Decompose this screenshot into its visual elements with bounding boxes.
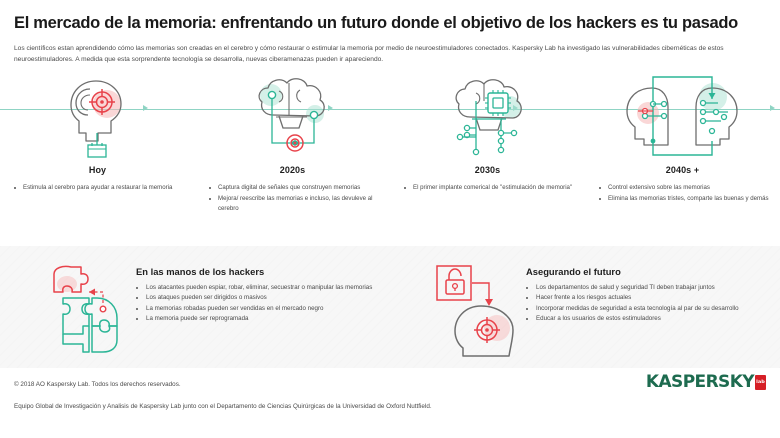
list-item: Captura digital de señales que construye… [209,183,390,193]
brain-with-microchip-implant-icon [390,71,585,163]
panel-text-hackers: En las manos de los hackers Los atacante… [132,260,372,325]
timeline-stage-2020s[interactable]: 2020s Captura digital de señales que con… [195,71,390,221]
stage-label: 2030s [390,165,585,175]
bottom-panel: En las manos de los hackers Los atacante… [0,246,780,368]
panel-title: Asegurando el futuro [526,266,739,277]
kaspersky-lab-logo: KASPERSKY lab [646,374,766,391]
stage-bullet-list: El primer implante comerical de "estimul… [390,183,585,193]
panel-bullet-list: Los atacantes pueden espiar, robar, elim… [136,283,372,325]
logo-wordmark: KASPERSKY [646,374,754,391]
panel-text-securing-future: Asegurando el futuro Los departamentos d… [522,260,739,325]
list-item: Control extensivo sobre las memorias [599,183,780,193]
timeline-stage-hoy[interactable]: Hoy Estimula al cerebro para ayudar a re… [0,71,195,221]
stage-label: 2040s + [585,165,780,175]
list-item: La memorias robadas pueden ser vendidas … [136,304,372,314]
puzzle-head-missing-piece-icon [36,260,132,358]
stage-bullet-list: Estimula al cerebro para ayudar a restau… [0,183,195,193]
stage-bullet-list: Control extensivo sobre las memorias Eli… [585,183,780,204]
two-heads-memory-transfer-icon [585,71,780,163]
timeline-stage-2030s[interactable]: 2030s El primer implante comerical de "e… [390,71,585,221]
panel-hackers: En las manos de los hackers Los atacante… [0,246,390,368]
footer: © 2018 AO Kaspersky Lab. Todos los derec… [0,368,780,438]
intro-paragraph: Los científicos estan aprendidendo cómo … [14,43,766,66]
list-item: Los ataques pueden ser dirigidos o masiv… [136,293,372,303]
panel-securing-future: Asegurando el futuro Los departamentos d… [390,246,780,368]
timeline-stage-2040s[interactable]: 2040s + Control extensivo sobre las memo… [585,71,780,221]
padlock-head-secured-icon [426,260,522,358]
stage-label: Hoy [0,165,195,175]
list-item: Mejora/ reescribe las memorias e incluso… [209,194,390,214]
stage-label: 2020s [195,165,390,175]
list-item: Elimina las memorias tristes, comparte l… [599,194,780,204]
logo-lab-mark: lab [755,375,766,390]
list-item: Hacer frente a los riesgos actuales [526,293,739,303]
stage-bullet-list: Captura digital de señales que construye… [195,183,390,214]
list-item: La memoria puede ser reprogramada [136,314,372,324]
header: El mercado de la memoria: enfrentando un… [0,0,780,65]
list-item: Incorporar medidas de seguridad a esta t… [526,304,739,314]
list-item: Estimula al cerebro para ayudar a restau… [14,183,195,193]
list-item: Educar a los usuarios de estos estimulad… [526,314,739,324]
list-item: El primer implante comerical de "estimul… [404,183,585,193]
timeline: Hoy Estimula al cerebro para ayudar a re… [0,71,780,221]
credit-text: Equipo Global de Investigación y Analisi… [14,402,766,412]
list-item: Los atacantes pueden espiar, robar, elim… [136,283,372,293]
head-with-target-and-stimulator-icon [0,71,195,163]
list-item: Los departamentos de salud y seguridad T… [526,283,739,293]
page-title: El mercado de la memoria: enfrentando un… [14,14,766,34]
panel-bullet-list: Los departamentos de salud y seguridad T… [526,283,739,325]
brain-signal-capture-icon [195,71,390,163]
logo-lab-text: lab [756,380,765,385]
panel-title: En las manos de los hackers [136,266,372,277]
